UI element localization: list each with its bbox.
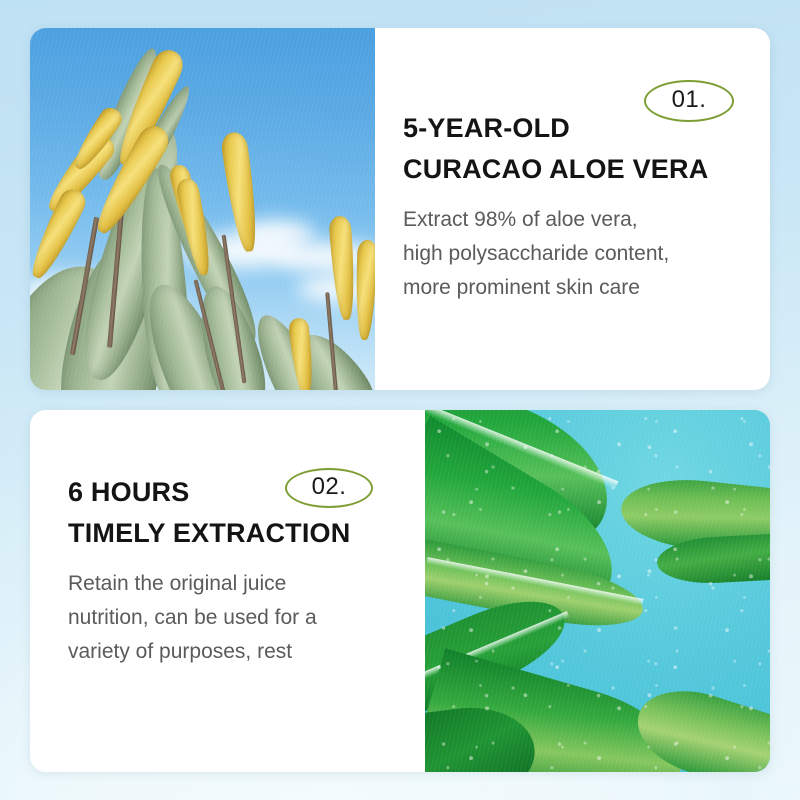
description-line-2: high polysaccharide content, xyxy=(403,237,750,271)
description-line-1: Extract 98% of aloe vera, xyxy=(403,203,750,237)
description-line-2: nutrition, can be used for a xyxy=(68,601,405,635)
feature-card-2: 02. 6 HOURS TIMELY EXTRACTION Retain the… xyxy=(30,410,770,772)
description-line-1: Retain the original juice xyxy=(68,567,405,601)
headline-line-2: CURACAO ALOE VERA xyxy=(403,149,750,190)
feature-card-1-text-panel: 01. 5-YEAR-OLD CURACAO ALOE VERA Extract… xyxy=(375,28,770,390)
aloe-vera-plants-photo xyxy=(30,28,375,390)
product-feature-poster: 01. 5-YEAR-OLD CURACAO ALOE VERA Extract… xyxy=(0,0,800,800)
feature-card-1-text: 5-YEAR-OLD CURACAO ALOE VERA Extract 98%… xyxy=(403,108,750,305)
headline-line-1: 5-YEAR-OLD xyxy=(403,113,570,143)
description-line-3: more prominent skin care xyxy=(403,271,750,305)
headline-line-2: TIMELY EXTRACTION xyxy=(68,513,405,554)
feature-card-2-text-panel: 02. 6 HOURS TIMELY EXTRACTION Retain the… xyxy=(30,410,425,772)
aloe-vera-gel-leaves-photo xyxy=(425,410,770,772)
feature-card-2-description: Retain the original juice nutrition, can… xyxy=(68,567,405,669)
feature-card-2-headline: 6 HOURS TIMELY EXTRACTION xyxy=(68,472,405,554)
headline-line-1: 6 HOURS xyxy=(68,477,189,507)
feature-card-1-headline: 5-YEAR-OLD CURACAO ALOE VERA xyxy=(403,108,750,190)
feature-card-1: 01. 5-YEAR-OLD CURACAO ALOE VERA Extract… xyxy=(30,28,770,390)
water-droplets-overlay xyxy=(425,410,770,772)
feature-card-2-text: 6 HOURS TIMELY EXTRACTION Retain the ori… xyxy=(68,472,405,669)
feature-card-1-description: Extract 98% of aloe vera, high polysacch… xyxy=(403,203,750,305)
description-line-3: variety of purposes, rest xyxy=(68,635,405,669)
